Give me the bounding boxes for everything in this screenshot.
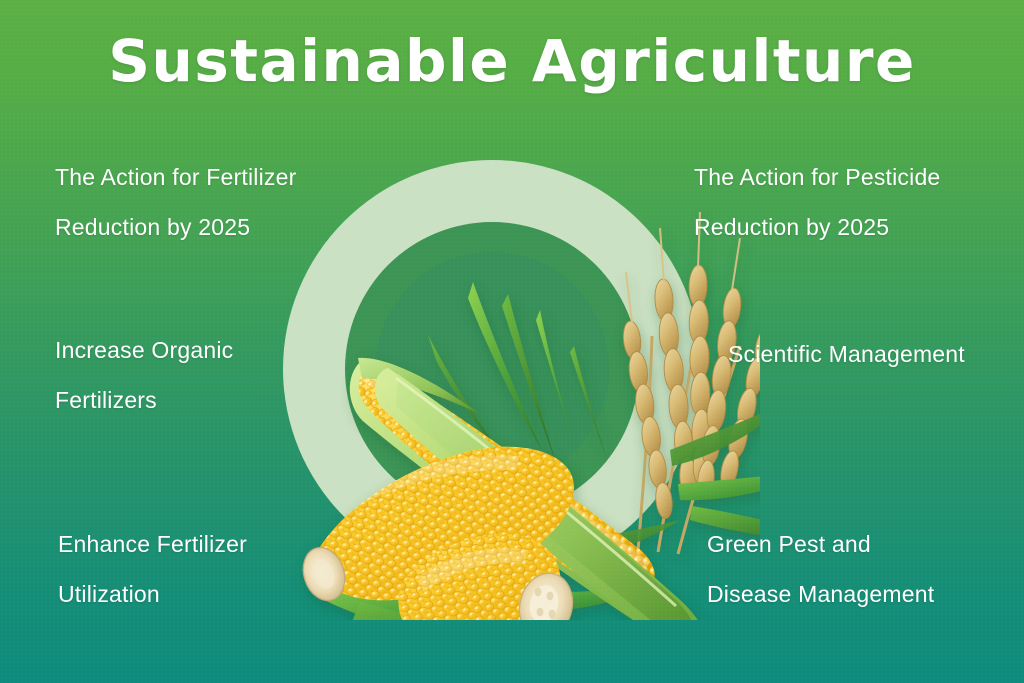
label-fertilizer-reduction-action: The Action for Fertilizer Reduction by 2…	[55, 152, 385, 252]
label-pesticide-reduction-action: The Action for Pesticide Reduction by 20…	[694, 152, 1014, 252]
label-enhance-fertilizer-utilization: Enhance Fertilizer Utilization	[58, 519, 358, 619]
sustainable-agriculture-poster: Sustainable Agriculture The Action for F…	[0, 0, 1024, 683]
label-increase-organic-fertilizers: Increase Organic Fertilizers	[55, 325, 355, 425]
page-title: Sustainable Agriculture	[0, 26, 1024, 96]
label-scientific-management: Scientific Management	[728, 329, 1024, 379]
wheat-stalks	[622, 212, 760, 554]
label-green-pest-disease-management: Green Pest and Disease Management	[707, 519, 1024, 619]
